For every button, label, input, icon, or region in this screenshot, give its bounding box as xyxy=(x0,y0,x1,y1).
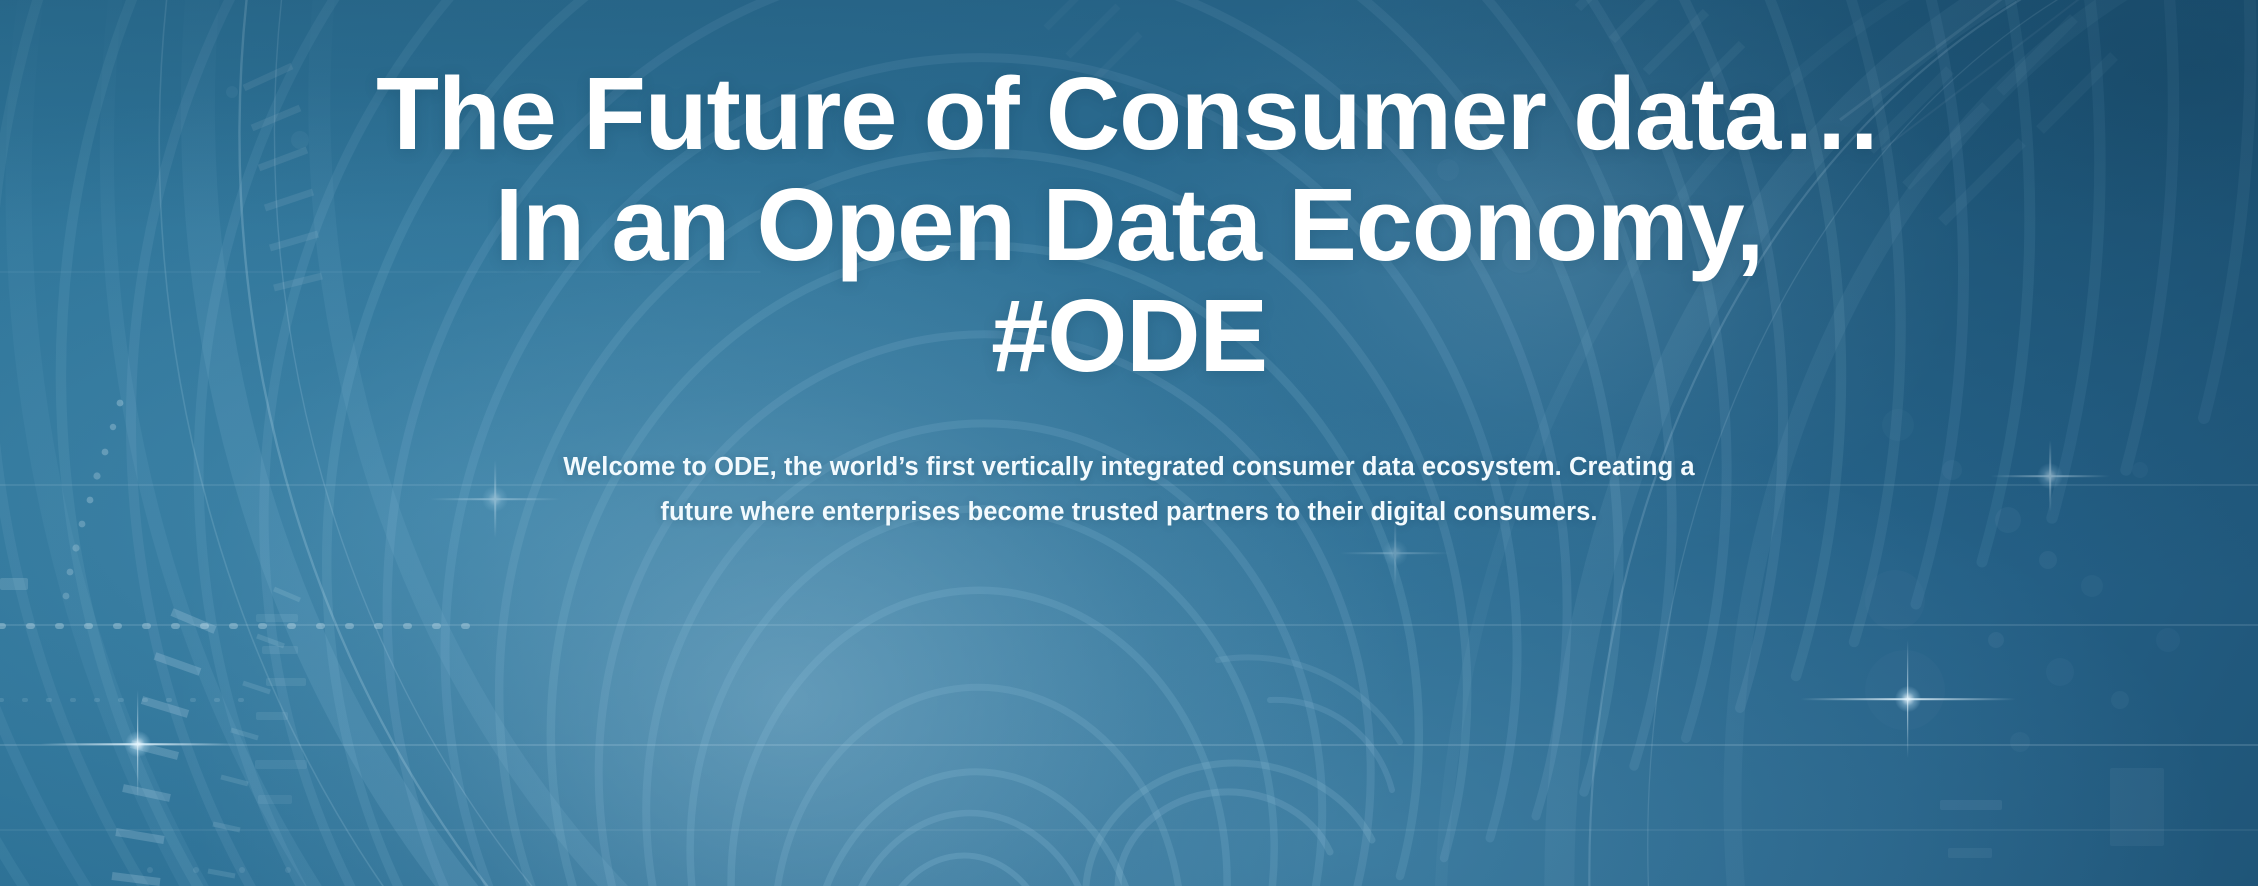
headline-line-3: #ODE xyxy=(0,280,2258,391)
hero-subcopy: Welcome to ODE, the world’s first vertic… xyxy=(534,445,1724,535)
headline-line-2: In an Open Data Economy, xyxy=(0,169,2258,280)
headline-line-1: The Future of Consumer data… xyxy=(0,58,2258,169)
page-title: The Future of Consumer data… In an Open … xyxy=(0,58,2258,391)
hero-content: The Future of Consumer data… In an Open … xyxy=(0,0,2258,886)
hero-banner: The Future of Consumer data… In an Open … xyxy=(0,0,2258,886)
